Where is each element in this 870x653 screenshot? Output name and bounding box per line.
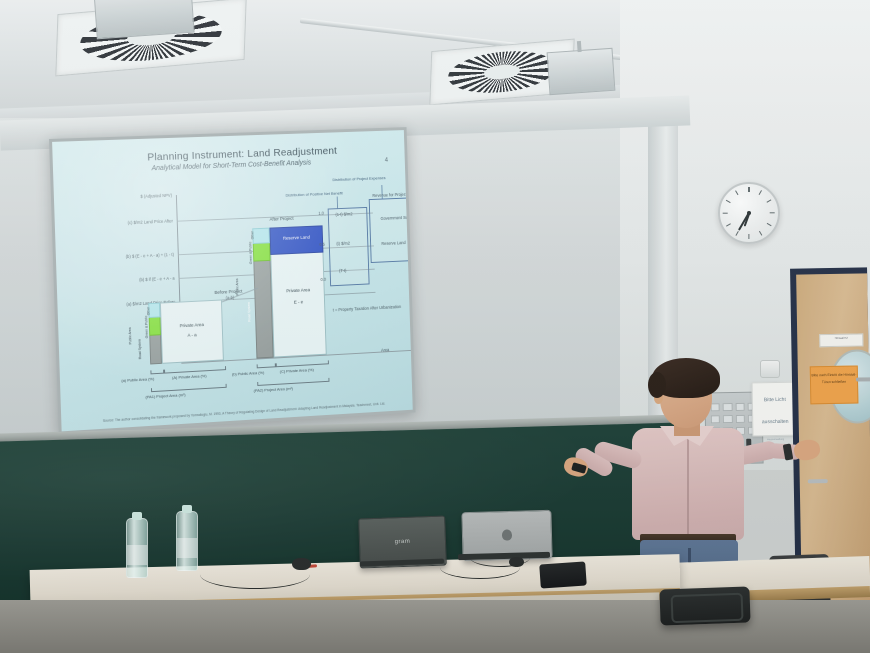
x-axis-label: Area [381, 347, 389, 352]
callout-tick: 0.5 [319, 242, 325, 247]
annotation-a-b: (a-b) [226, 295, 235, 300]
slide-page-number: 4 [385, 158, 388, 164]
wall-clock [718, 182, 780, 244]
bracket [164, 366, 226, 373]
callout-net-benefit-box [328, 207, 370, 286]
callout-item: (1-t) $/m2 [335, 211, 352, 217]
cable [470, 548, 530, 567]
cable [200, 560, 310, 589]
callout-expenses-title: Distribution of Project Expenses [332, 175, 385, 182]
before-green-public-block [149, 316, 161, 335]
before-road-system-block [149, 334, 162, 364]
bracket [257, 363, 276, 368]
before-total-bracket-label: (PA1) Project Area (m²) [145, 392, 185, 399]
callout-tick: 1.0 [318, 211, 324, 216]
before-road-system-text: Road System [138, 339, 143, 359]
door-room-label-text: Hörsaal H2 [820, 334, 862, 341]
leader-line [337, 196, 338, 208]
bracket [150, 370, 164, 375]
laptop-brand-text: gram [395, 539, 411, 546]
after-road-system-text: Road System [247, 302, 251, 322]
callout-expenses-subtitle: Revenue for Project Costs (%) [372, 191, 412, 198]
y-axis-title: $ (Adjusted NPV) [74, 193, 172, 202]
callout-net-benefit-title: Distribution of Positive Net Benefit [285, 190, 342, 197]
callout-item: (T-t) [339, 268, 346, 273]
before-public-bracket-label: (a) Public Area (%) [121, 376, 154, 383]
before-private-bracket-label: (A) Private Area (%) [172, 373, 207, 380]
slide-content: Planning Instrument: Land Readjustment A… [52, 130, 413, 431]
after-total-bracket-label: (PA2) Project Area (m²) [254, 386, 293, 393]
callout-expenses-box [369, 197, 413, 263]
bracket [257, 378, 329, 386]
water-bottle [176, 511, 198, 571]
water-bottle [126, 518, 148, 578]
projection-screen: Planning Instrument: Land Readjustment A… [49, 127, 416, 434]
y-axis-tick: (b) $ if (E - e + A - a [61, 276, 175, 286]
y-axis-tick: (b) $ (E - e + A - a) + (1 - t) [60, 252, 174, 262]
callout-item: Government Subsidies [380, 214, 412, 220]
laptop-bag[interactable] [659, 586, 750, 625]
apple-logo-icon [502, 529, 512, 540]
bracket [276, 360, 329, 367]
after-other-block [252, 228, 270, 244]
annotation-taxation: t = Property Taxation After Urbanization [333, 304, 401, 312]
after-green-public-text: Green & Public [248, 242, 253, 265]
after-private-bracket-label: (C) Private Area (%) [280, 367, 314, 374]
after-project-label: After Project [248, 215, 315, 223]
ceiling-light-panel [93, 0, 194, 39]
shirt [632, 428, 744, 540]
door-room-label: Hörsaal H2 [819, 333, 863, 347]
callout-tick: 0.0 [320, 277, 326, 282]
ceiling-light-panel [547, 48, 616, 95]
door-handle-outer[interactable] [856, 377, 870, 381]
lecture-hall-photo: Planning Instrument: Land Readjustment A… [0, 0, 870, 653]
y-axis-tick: (c) $/m2 Land Price After [59, 218, 173, 228]
after-other-text: Other [251, 231, 255, 239]
before-green-public-text: Green & Public [144, 316, 149, 339]
callout-item: (t) $/m2 [336, 241, 350, 246]
after-public-bracket-label: (b) Public Area (%) [232, 370, 264, 377]
after-green-public-block [253, 242, 271, 261]
after-public-area-text: Public Area [235, 278, 239, 295]
before-other-text: Other [147, 307, 151, 316]
hair [652, 358, 720, 398]
before-public-area-text: Public Area [128, 327, 132, 344]
bracket [151, 384, 227, 392]
smartphone[interactable] [539, 561, 587, 588]
